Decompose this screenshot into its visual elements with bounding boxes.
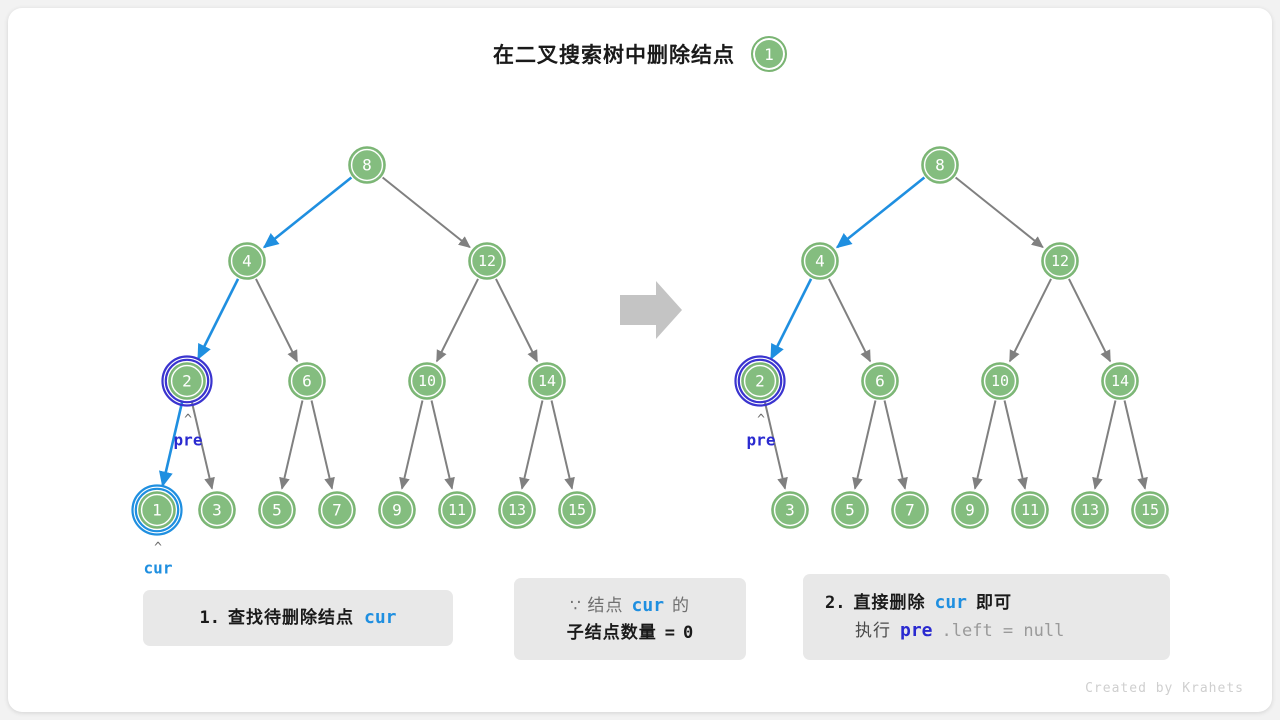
tree-node-10[interactable]: 10 — [982, 363, 1018, 399]
caption-reason-line-2: 子结点数量=0 — [567, 620, 694, 647]
tree-node-11[interactable]: 11 — [439, 492, 475, 528]
caption-reason: ∵ 结点cur的 子结点数量=0 — [514, 578, 746, 660]
tree-node-6[interactable]: 6 — [289, 363, 325, 399]
caption-reason-code: cur — [632, 595, 665, 616]
tree-node-4[interactable]: 4 — [802, 243, 838, 279]
tree-node-13[interactable]: 13 — [1072, 492, 1108, 528]
tree-node-1[interactable]: 1 — [133, 486, 182, 535]
tree-node-9[interactable]: 9 — [379, 492, 415, 528]
node-label: 11 — [448, 501, 466, 519]
pointer-label: cur — [144, 559, 173, 578]
diagram-card: 在二叉搜索树中删除结点 1 84122610141357911131584122… — [8, 8, 1272, 712]
caption-reason-line-1: ∵ 结点cur的 — [570, 592, 690, 620]
pointer-caret-icon: ^ — [184, 413, 192, 428]
caption-step-2-exec-label: 执行 — [855, 621, 891, 640]
tree-edge-L12-L10 — [437, 279, 478, 361]
node-label: 10 — [991, 372, 1009, 390]
tree-edge-L6-L7 — [312, 400, 332, 488]
tree-node-11[interactable]: 11 — [1012, 492, 1048, 528]
caption-step-1: 1.查找待删除结点cur — [143, 590, 453, 646]
caption-reason-equals: = — [665, 623, 675, 643]
tree-edge-L14-L15 — [552, 400, 572, 488]
tree-node-7[interactable]: 7 — [319, 492, 355, 528]
node-label: 12 — [1051, 252, 1069, 270]
caption-step-2-line-2: 执行pre.left = null — [825, 617, 1064, 645]
node-label: 4 — [815, 252, 825, 271]
tree-edge-L4-L2 — [198, 279, 238, 359]
tree-edge-L8-L12 — [383, 177, 470, 247]
pointer-label: pre — [747, 431, 776, 450]
tree-node-10[interactable]: 10 — [409, 363, 445, 399]
caption-step-2-line-1: 2.直接删除cur即可 — [825, 589, 1012, 617]
pointer-caret-icon: ^ — [154, 541, 162, 556]
tree-edge-R8-R12 — [956, 177, 1043, 247]
node-label: 2 — [182, 372, 192, 391]
node-label: 1 — [152, 501, 162, 520]
tree-edge-R6-R7 — [885, 400, 905, 488]
node-label: 10 — [418, 372, 436, 390]
tree-edge-R10-R9 — [975, 400, 995, 488]
node-label: 15 — [568, 501, 586, 519]
tree-edge-R8-R4 — [837, 177, 924, 247]
tree-edge-R4-R6 — [829, 279, 870, 361]
tree-node-15[interactable]: 15 — [1132, 492, 1168, 528]
node-label: 9 — [392, 501, 402, 520]
tree-node-3[interactable]: 3 — [199, 492, 235, 528]
tree-edge-L6-L5 — [282, 400, 302, 488]
caption-reason-prefix: ∵ 结点 — [570, 596, 624, 615]
caption-reason-label: 子结点数量 — [567, 623, 657, 642]
tree-edge-R4-R2 — [771, 279, 811, 359]
right-arrow-icon — [620, 281, 682, 339]
node-label: 5 — [272, 501, 282, 520]
tree-edge-R14-R15 — [1125, 400, 1145, 488]
tree-node-7[interactable]: 7 — [892, 492, 928, 528]
caption-step-2-assignment: .left = null — [942, 621, 1065, 641]
node-label: 8 — [362, 156, 372, 175]
caption-step-2: 2.直接删除cur即可 执行pre.left = null — [803, 574, 1170, 660]
caption-step-1-text: 查找待删除结点 — [228, 608, 354, 627]
tree-edge-R10-R11 — [1005, 400, 1025, 488]
tree-node-14[interactable]: 14 — [529, 363, 565, 399]
pointer-cur-left: ^cur — [144, 541, 173, 578]
node-label: 2 — [755, 372, 765, 391]
caption-step-2-pre-code: pre — [900, 620, 933, 641]
tree-node-8[interactable]: 8 — [922, 147, 958, 183]
node-label: 14 — [1111, 372, 1129, 390]
caption-step-1-index: 1. — [200, 608, 220, 628]
node-label: 13 — [508, 501, 526, 519]
node-label: 15 — [1141, 501, 1159, 519]
footer-credit: Created by Krahets — [1085, 681, 1244, 696]
tree-node-14[interactable]: 14 — [1102, 363, 1138, 399]
tree-node-3[interactable]: 3 — [772, 492, 808, 528]
node-label: 4 — [242, 252, 252, 271]
tree-node-15[interactable]: 15 — [559, 492, 595, 528]
tree-edge-L10-L9 — [402, 400, 422, 488]
caption-reason-value: 0 — [683, 623, 693, 643]
tree-edge-R6-R5 — [855, 400, 875, 488]
tree-edge-R12-R14 — [1069, 279, 1110, 361]
tree-node-13[interactable]: 13 — [499, 492, 535, 528]
tree-node-2[interactable]: 2 — [163, 357, 212, 406]
caption-reason-suffix: 的 — [672, 596, 690, 615]
node-label: 11 — [1021, 501, 1039, 519]
tree-edge-L4-L6 — [256, 279, 297, 361]
caption-step-2-index: 2. — [825, 593, 845, 613]
tree-node-8[interactable]: 8 — [349, 147, 385, 183]
tree-edge-R14-R13 — [1095, 400, 1115, 488]
caption-step-2-suffix: 即可 — [976, 593, 1012, 612]
caption-step-1-line: 1.查找待删除结点cur — [200, 604, 397, 632]
tree-edge-L14-L13 — [522, 400, 542, 488]
pointer-label: pre — [174, 431, 203, 450]
tree-edge-L8-L4 — [264, 177, 351, 247]
node-label: 14 — [538, 372, 556, 390]
tree-node-6[interactable]: 6 — [862, 363, 898, 399]
caption-step-2-prefix: 直接删除 — [853, 593, 925, 612]
tree-node-12[interactable]: 12 — [469, 243, 505, 279]
node-label: 6 — [875, 372, 885, 391]
node-label: 3 — [785, 501, 795, 520]
tree-edge-R12-R10 — [1010, 279, 1051, 361]
node-label: 7 — [905, 501, 915, 520]
pointer-pre-right: ^pre — [747, 413, 776, 450]
node-label: 13 — [1081, 501, 1099, 519]
tree-node-9[interactable]: 9 — [952, 492, 988, 528]
transition-arrow — [620, 281, 682, 339]
node-label: 12 — [478, 252, 496, 270]
tree-edge-L10-L11 — [432, 400, 452, 488]
node-label: 3 — [212, 501, 222, 520]
caption-step-2-code: cur — [934, 592, 967, 613]
tree-node-2[interactable]: 2 — [736, 357, 785, 406]
pointer-caret-icon: ^ — [757, 413, 765, 428]
node-label: 6 — [302, 372, 312, 391]
tree-node-5[interactable]: 5 — [259, 492, 295, 528]
tree-edge-L12-L14 — [496, 279, 537, 361]
node-label: 9 — [965, 501, 975, 520]
node-label: 5 — [845, 501, 855, 520]
caption-step-1-code: cur — [364, 607, 397, 628]
tree-node-4[interactable]: 4 — [229, 243, 265, 279]
tree-node-12[interactable]: 12 — [1042, 243, 1078, 279]
tree-node-5[interactable]: 5 — [832, 492, 868, 528]
node-label: 8 — [935, 156, 945, 175]
node-label: 7 — [332, 501, 342, 520]
edges-layer — [163, 177, 1145, 488]
